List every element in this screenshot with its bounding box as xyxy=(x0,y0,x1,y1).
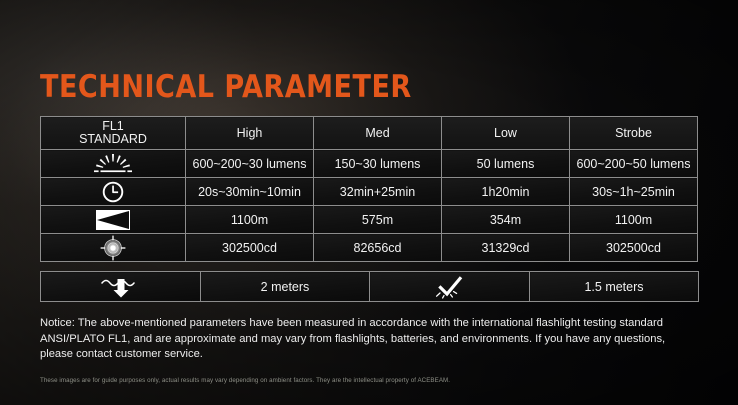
notice-text: Notice: The above-mentioned parameters h… xyxy=(40,316,700,363)
fineprint-disclaimer: These images are for guide purposes only… xyxy=(40,376,660,385)
cell-peak-beam-intensity-med: 82656cd xyxy=(314,234,442,262)
fl1-standard-header: FL1 STANDARD xyxy=(41,117,186,150)
beam-distance-icon xyxy=(41,206,186,234)
ratings-table: 2 meters xyxy=(40,271,699,302)
brightness-sunburst-icon xyxy=(41,150,186,178)
cell-peak-beam-intensity-strobe: 302500cd xyxy=(570,234,698,262)
impact-resistance-value: 1.5 meters xyxy=(530,272,699,302)
column-header-high: High xyxy=(186,117,314,150)
ratings-row: 2 meters xyxy=(41,272,699,302)
column-header-strobe: Strobe xyxy=(570,117,698,150)
cell-output-med: 150~30 lumens xyxy=(314,150,442,178)
page-title: TECHNICAL PARAMETER xyxy=(40,72,678,103)
clock-icon xyxy=(41,178,186,206)
table-row-output: 600~200~30 lumens 150~30 lumens 50 lumen… xyxy=(41,150,698,178)
water-submersion-icon xyxy=(41,272,201,302)
cell-output-high: 600~200~30 lumens xyxy=(186,150,314,178)
table-row-beam-distance: 1100m 575m 354m 1100m xyxy=(41,206,698,234)
technical-parameter-panel: TECHNICAL PARAMETER FL1 STANDARD High Me… xyxy=(0,0,738,405)
table-header-row: FL1 STANDARD High Med Low Strobe xyxy=(41,117,698,150)
peak-beam-intensity-icon xyxy=(41,234,186,262)
cell-peak-beam-intensity-high: 302500cd xyxy=(186,234,314,262)
table-row-peak-beam-intensity: 302500cd 82656cd 31329cd 302500cd xyxy=(41,234,698,262)
cell-output-low: 50 lumens xyxy=(442,150,570,178)
cell-beam-distance-strobe: 1100m xyxy=(570,206,698,234)
cell-peak-beam-intensity-low: 31329cd xyxy=(442,234,570,262)
column-header-med: Med xyxy=(314,117,442,150)
cell-beam-distance-med: 575m xyxy=(314,206,442,234)
cell-runtime-low: 1h20min xyxy=(442,178,570,206)
cell-runtime-strobe: 30s~1h~25min xyxy=(570,178,698,206)
cell-output-strobe: 600~200~50 lumens xyxy=(570,150,698,178)
column-header-low: Low xyxy=(442,117,570,150)
cell-beam-distance-high: 1100m xyxy=(186,206,314,234)
cell-beam-distance-low: 354m xyxy=(442,206,570,234)
impact-resistance-icon xyxy=(370,272,530,302)
water-submersion-value: 2 meters xyxy=(201,272,370,302)
specifications-table: FL1 STANDARD High Med Low Strobe xyxy=(40,116,698,262)
cell-runtime-high: 20s~30min~10min xyxy=(186,178,314,206)
table-row-runtime: 20s~30min~10min 32min+25min 1h20min 30s~… xyxy=(41,178,698,206)
cell-runtime-med: 32min+25min xyxy=(314,178,442,206)
